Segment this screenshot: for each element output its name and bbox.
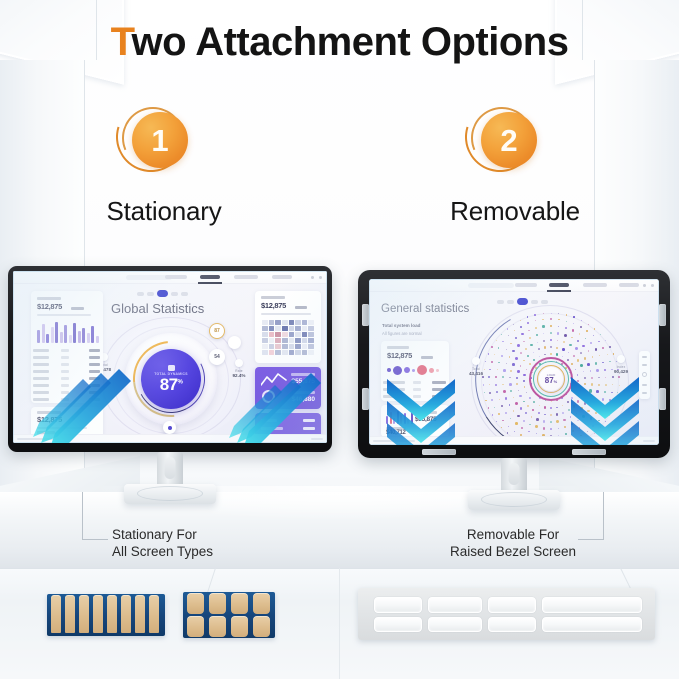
radial-dot: [569, 344, 572, 347]
segment-m-selected[interactable]: [157, 290, 168, 297]
radial-dot: [598, 341, 599, 342]
radial-dot: [596, 390, 599, 393]
radial-dot: [536, 418, 539, 421]
monitor-removable: General statistics Total system load All…: [358, 270, 670, 458]
adhesive-pad: [51, 595, 61, 633]
side-stat-value: 92.4%: [225, 373, 253, 378]
table-row: [381, 393, 449, 400]
radial-dot: [483, 384, 484, 385]
radial-dot: [485, 400, 487, 402]
radial-dot: [510, 390, 512, 392]
gauge-core-left: TOTAL DYNAMICS 87%: [141, 349, 201, 409]
radial-dot: [572, 430, 574, 432]
right-tool-rail[interactable]: [639, 351, 650, 399]
segment-y[interactable]: [541, 300, 548, 304]
monitor-base-left: [124, 484, 216, 504]
radial-dot: [517, 344, 520, 347]
card-label: [261, 296, 285, 299]
rail-icon-2[interactable]: [642, 364, 647, 366]
radial-dot: [551, 313, 552, 314]
radial-dot: [533, 352, 534, 353]
gauge-settings-fab[interactable]: [163, 421, 176, 434]
radial-dot: [523, 341, 524, 342]
card-delta: [421, 356, 433, 359]
radial-dot: [575, 347, 578, 350]
nav-tab-3[interactable]: [583, 283, 607, 287]
segment-y[interactable]: [181, 292, 188, 296]
radial-dot: [520, 326, 522, 328]
radial-dot: [598, 384, 600, 386]
radial-dot: [523, 374, 525, 376]
page-title: Two Attachment Options: [0, 20, 679, 65]
radial-dot: [550, 318, 551, 319]
radial-dot: [502, 376, 504, 378]
radial-dot: [526, 369, 527, 370]
radial-dot: [550, 407, 552, 409]
radial-dot: [609, 399, 611, 401]
radial-dot: [543, 313, 544, 314]
radial-dot: [605, 421, 606, 422]
clip-slot-top-4: [542, 597, 642, 613]
rail-icon-circle[interactable]: [642, 372, 647, 377]
radial-dot: [564, 334, 567, 337]
radial-dot: [513, 410, 514, 411]
rail-icon-3[interactable]: [642, 384, 647, 386]
radial-dot: [580, 407, 583, 410]
radial-dot: [596, 369, 599, 372]
radial-dot: [613, 407, 615, 409]
radial-dot: [602, 347, 604, 349]
bubble-chart-card: $12,875: [381, 341, 449, 401]
adhesive-pad: [149, 595, 159, 633]
radial-dot: [543, 333, 544, 334]
radial-dot: [495, 384, 497, 386]
radial-dot: [582, 415, 585, 418]
caption-removable-line2: Raised Bezel Screen: [450, 543, 576, 560]
radial-dot: [558, 313, 559, 314]
radial-dot: [565, 327, 567, 329]
card-label: [387, 346, 409, 349]
table-row: [31, 375, 103, 382]
radial-dot: [542, 319, 543, 320]
gauge-bubble-1[interactable]: 87: [209, 323, 225, 339]
radial-dot: [605, 384, 607, 386]
right-card-heatmap: $12,875: [255, 291, 321, 363]
radial-dot: [523, 401, 525, 403]
option-label-1: Stationary: [14, 196, 314, 227]
gauge-bubble-3[interactable]: 54: [209, 349, 225, 365]
radial-dot: [544, 406, 546, 408]
radial-dot: [558, 326, 559, 327]
dashboard-subtitle-1: Total system load: [382, 323, 420, 328]
radial-dot: [571, 363, 573, 365]
radial-dot: [592, 425, 594, 427]
radial-dot: [533, 401, 535, 403]
radial-dot: [488, 407, 489, 408]
radial-dot: [556, 413, 559, 416]
radial-dot: [520, 320, 521, 321]
topbar-icon-a[interactable]: [311, 276, 314, 279]
card-label: [37, 411, 61, 414]
radial-dot: [512, 350, 514, 352]
rail-icon-1[interactable]: [642, 356, 647, 358]
radial-dot: [591, 377, 593, 379]
radial-dot: [557, 332, 559, 334]
radial-dot: [595, 412, 597, 414]
adhesive-pad: [93, 595, 103, 633]
radial-dot: [496, 340, 497, 341]
radial-dot: [550, 421, 552, 423]
radial-dot: [567, 359, 569, 361]
nav-tab-1[interactable]: [165, 275, 187, 279]
rail-icon-4[interactable]: [642, 392, 647, 394]
radial-dot: [579, 427, 581, 429]
radial-dot: [556, 347, 558, 349]
radial-dot: [521, 427, 523, 429]
monitor-base-right: [468, 490, 560, 510]
bubble-series: [387, 365, 439, 375]
radial-dot: [598, 420, 600, 422]
monitor-bezel-right: General statistics Total system load All…: [358, 270, 670, 458]
radial-dot: [539, 356, 540, 357]
radial-dot: [558, 428, 559, 429]
dashboard-topbar-right: [369, 279, 659, 292]
segment-d[interactable]: [137, 292, 144, 296]
card-value: $12,875: [387, 351, 412, 360]
radial-dot: [584, 402, 586, 404]
topbar-icon-b[interactable]: [319, 276, 322, 279]
plist-val-1: [303, 419, 315, 422]
radial-dot: [515, 402, 518, 405]
radial-dot: [587, 410, 589, 412]
clip-slot-bottom-4: [542, 617, 642, 632]
radial-dot: [612, 376, 614, 378]
radial-dot: [550, 332, 552, 334]
radial-dot: [514, 431, 515, 432]
adhesive-pad: [121, 595, 131, 633]
adhesive-pad: [253, 616, 270, 637]
radial-dot: [603, 414, 604, 415]
radial-dot: [519, 395, 522, 398]
gauge-bubble-2[interactable]: [228, 336, 241, 349]
radial-dot: [571, 423, 573, 425]
caption-stationary: Stationary For All Screen Types: [112, 526, 213, 561]
bezel-clip-bottom-right[interactable]: [572, 449, 606, 455]
radial-dot: [562, 405, 563, 406]
radial-dot: [529, 363, 531, 365]
radial-dot: [523, 360, 525, 362]
radial-dot: [587, 431, 588, 432]
radial-dot: [517, 370, 520, 373]
adhesive-pad: [231, 593, 248, 614]
radial-dot: [524, 386, 525, 387]
radial-dot: [594, 328, 596, 330]
radial-dot: [518, 390, 519, 391]
table-row: [31, 347, 103, 354]
radial-dot: [528, 330, 529, 331]
radial-dot: [543, 427, 545, 429]
radial-dot: [489, 384, 490, 385]
radial-dot: [537, 342, 538, 343]
radial-dot: [562, 348, 565, 351]
clip-slot-bottom-1: [374, 617, 422, 632]
radial-dot: [568, 352, 569, 353]
radial-dot: [523, 420, 525, 422]
radial-dot: [550, 414, 551, 415]
radial-dot: [503, 390, 506, 393]
radial-dot: [544, 346, 546, 348]
radial-dot: [615, 400, 616, 401]
side-stat-value: 90,429: [607, 369, 635, 374]
radial-dot: [550, 353, 552, 355]
bezel-clip-right-top[interactable]: [659, 304, 666, 326]
adhesive-pad: [135, 595, 145, 633]
caption-stationary-line2: All Screen Types: [112, 543, 213, 560]
radial-dot: [550, 346, 551, 347]
radial-dot: [498, 347, 499, 348]
nav-tab-4[interactable]: [619, 283, 639, 287]
radial-dot: [563, 419, 566, 422]
radial-dot: [516, 383, 518, 385]
radial-dot: [595, 348, 598, 351]
radial-dot: [495, 376, 498, 379]
table-row: [31, 368, 103, 375]
caption-removable-line1: Removable For: [450, 526, 576, 543]
radial-hub-value-wrap: 87%: [545, 377, 557, 385]
clip-slot-top-3: [488, 597, 536, 613]
card-value: $55,875: [415, 416, 436, 423]
radial-dot: [509, 356, 511, 358]
radial-dot: [502, 420, 504, 422]
radial-dot: [604, 369, 606, 371]
table-row: [31, 396, 103, 403]
bottombar-meta: [311, 438, 323, 440]
radial-dot: [543, 420, 545, 422]
caption-removable: Removable For Raised Bezel Screen: [450, 526, 576, 561]
segment-w[interactable]: [147, 292, 154, 296]
topbar-icon-b[interactable]: [651, 284, 654, 287]
bezel-clip-left-bottom[interactable]: [362, 388, 369, 410]
table-row: [31, 382, 103, 389]
radial-dot: [577, 340, 579, 342]
gauge-unit: %: [177, 380, 182, 386]
card-label: [415, 411, 437, 414]
segment-m-selected[interactable]: [517, 298, 528, 305]
radial-dot: [590, 417, 592, 419]
radial-dot: [585, 423, 586, 424]
radial-dot: [512, 363, 515, 366]
dashboard-bottombar-right: [369, 436, 659, 445]
radial-dot: [557, 340, 558, 341]
radial-dot: [580, 352, 582, 354]
radial-dot: [501, 427, 503, 429]
bezel-clip-right-bottom[interactable]: [659, 388, 666, 410]
radial-dot: [573, 316, 575, 318]
radial-dot: [527, 316, 528, 317]
table-row: [381, 386, 449, 393]
radial-dot: [508, 335, 509, 336]
monitor-bezel-left: Global Statistics TOTAL DYNAMICS 87% 87 …: [8, 266, 332, 452]
radial-dot: [573, 323, 574, 324]
radial-dot: [556, 420, 559, 423]
side-stat-icon: [235, 359, 243, 367]
radial-dot: [536, 433, 537, 434]
card-value: $12,875: [37, 415, 62, 424]
radial-dot: [577, 374, 578, 375]
card-subtext: [37, 427, 87, 429]
bezel-clip-left-top[interactable]: [362, 304, 369, 326]
radial-hub-value: 87: [545, 376, 554, 385]
page-title-accent-letter: T: [111, 20, 132, 64]
radial-dot: [599, 406, 600, 407]
radial-dot: [572, 329, 574, 331]
radial-dot: [562, 356, 563, 357]
adhesive-pad: [187, 593, 204, 614]
radial-dot: [491, 346, 493, 348]
radial-dot: [539, 405, 540, 406]
radial-dot: [582, 345, 585, 348]
radial-dot: [605, 377, 606, 378]
radial-dot: [609, 415, 610, 416]
nav-tab-3[interactable]: [234, 275, 258, 279]
left-card-table: [31, 347, 103, 403]
radial-hub-left: LOAD 87%: [539, 367, 563, 391]
gauge-value-wrap: 87%: [160, 376, 182, 393]
card-bar-chart: [37, 321, 99, 343]
radial-dot: [491, 361, 493, 363]
radial-dot: [556, 407, 557, 408]
radial-dot: [588, 350, 589, 351]
radial-dot: [599, 355, 600, 356]
radial-dot: [509, 377, 510, 378]
card-subtext: [37, 314, 91, 316]
segment-w[interactable]: [507, 300, 514, 304]
radial-dot: [595, 398, 596, 399]
radial-dot: [579, 333, 580, 334]
side-stat-right-right-monitor: Index 90,429: [607, 355, 635, 374]
segment-d[interactable]: [497, 300, 504, 304]
radial-dot: [527, 355, 530, 358]
radial-dot: [529, 337, 531, 339]
radial-dot: [583, 371, 584, 372]
clip-slot-bottom-3: [488, 617, 536, 632]
trend-line-icon: [261, 373, 287, 387]
gauge-core-icon: [168, 365, 175, 371]
nav-tab-active[interactable]: [200, 275, 220, 279]
side-stat-value: 43,416: [463, 371, 489, 376]
badge-number-2: 2: [481, 112, 537, 168]
radial-dot: [550, 339, 553, 342]
pcard-value: $55,875: [292, 378, 316, 385]
topbar-icon-a[interactable]: [643, 284, 646, 287]
radial-dot: [488, 376, 489, 377]
card-delta: [295, 306, 307, 309]
radial-dot: [576, 386, 578, 388]
radial-dot: [494, 354, 495, 355]
radial-dot: [528, 431, 530, 433]
card-delta: [71, 307, 84, 310]
nav-tab-4[interactable]: [272, 275, 292, 279]
segment-q[interactable]: [531, 300, 538, 304]
dashboard-title-right: General statistics: [381, 303, 469, 315]
nav-tab-1[interactable]: [515, 283, 537, 287]
range-segmented-control-right[interactable]: [497, 298, 548, 305]
radial-dot: [576, 413, 577, 414]
accessory-removable-clip-sheet: [358, 588, 655, 640]
pcard-label-2: [293, 391, 315, 394]
radial-dot: [497, 369, 498, 370]
radial-dot: [612, 384, 613, 385]
radial-dot: [587, 363, 590, 366]
radial-dot: [496, 421, 497, 422]
radial-dot: [525, 412, 527, 414]
shelf-hairline-left: [207, 568, 216, 593]
side-stat-left-right-monitor: Total 43,416: [463, 357, 489, 376]
gauge-value: 87: [160, 375, 178, 394]
radial-dot: [505, 397, 507, 399]
radial-dot: [618, 376, 620, 378]
side-stat-right: Rate 92.4%: [225, 359, 253, 378]
radial-dot: [507, 328, 509, 330]
radial-dot: [544, 414, 546, 416]
radial-dot: [609, 346, 610, 347]
radial-dot: [507, 432, 508, 433]
radial-dot: [584, 357, 586, 359]
plist-row-2: [261, 427, 283, 430]
table-row: [31, 389, 103, 396]
radial-dot: [501, 355, 503, 357]
segment-q[interactable]: [171, 292, 178, 296]
dashboard-bottombar-left: [13, 434, 327, 443]
radial-dot: [592, 356, 594, 358]
radial-dot: [602, 398, 605, 401]
radial-dot: [488, 353, 489, 354]
radial-dot: [494, 407, 495, 408]
radial-dot: [526, 392, 527, 393]
radial-dot: [521, 333, 524, 336]
radial-dot: [571, 337, 572, 338]
search-field-placeholder[interactable]: [468, 283, 514, 288]
radial-dot: [589, 389, 592, 392]
radial-dot: [575, 392, 576, 393]
table-row: [31, 354, 103, 361]
range-segmented-control-left[interactable]: [137, 290, 188, 297]
bezel-clip-bottom-left[interactable]: [422, 449, 456, 455]
radial-dot: [506, 363, 507, 364]
nav-tab-active[interactable]: [549, 283, 569, 287]
clip-slot-top-2: [428, 597, 482, 613]
radial-dot: [508, 426, 509, 427]
radial-dot: [510, 418, 511, 419]
card-value: $12,875: [261, 301, 286, 310]
radial-dot: [538, 412, 540, 414]
radial-dot: [566, 314, 567, 315]
leader-line-left: [82, 492, 108, 540]
radial-dot: [535, 327, 537, 329]
adhesive-pad: [231, 616, 248, 637]
option-badge-2: 2: [459, 106, 569, 184]
clip-slot-bottom-2: [428, 617, 482, 632]
radial-dot: [523, 380, 525, 382]
radial-dot: [509, 404, 511, 406]
radial-dot: [536, 334, 539, 337]
radial-dot: [600, 334, 601, 335]
radial-dot: [619, 385, 620, 386]
radial-dot: [577, 420, 578, 421]
radial-dot: [498, 362, 500, 364]
radial-dot: [515, 357, 518, 360]
radial-dot: [617, 392, 618, 393]
